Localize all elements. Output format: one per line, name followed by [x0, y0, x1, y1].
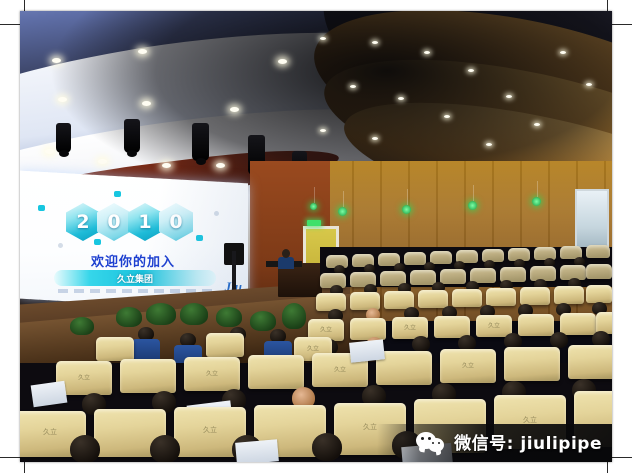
- wechat-icon: [416, 430, 446, 454]
- ceiling-spotlight: [320, 37, 326, 40]
- ceiling-spotlight: [230, 107, 239, 112]
- seat: [586, 264, 612, 279]
- ceiling-spotlight: [52, 58, 61, 63]
- seat: [206, 333, 244, 357]
- ceiling-spotlight: [468, 69, 474, 72]
- handout-paper: [31, 381, 68, 408]
- pendant-lamp: [402, 205, 411, 214]
- ceiling-spotlight: [398, 97, 404, 100]
- seat-logo: 久立: [78, 372, 90, 381]
- wechat-eye: [438, 442, 440, 444]
- seat: [586, 285, 612, 303]
- ceiling-spotlight: [216, 163, 225, 168]
- seat: [418, 290, 448, 308]
- ceiling-spotlight: [372, 41, 378, 44]
- wechat-eye: [421, 437, 424, 440]
- stage-plant: [146, 303, 176, 325]
- ceiling-spotlight: [586, 83, 592, 86]
- pendant-lamp: [338, 207, 347, 216]
- attendee-head: [150, 435, 180, 462]
- seat: [120, 359, 176, 393]
- pendant-lamp: [310, 203, 317, 210]
- stage-light-fixture: [192, 123, 209, 161]
- wechat-bubble-small: [428, 438, 444, 452]
- photo-frame: 2 0 1 0 欢迎你的加入 久立集团 Jiu: [0, 0, 632, 473]
- stage-plant: [282, 303, 306, 329]
- seat: [410, 270, 436, 285]
- ceiling-spotlight: [138, 49, 147, 54]
- seat-logo: 久立: [334, 364, 346, 373]
- ceiling-spotlight: [58, 97, 67, 102]
- seat: [452, 289, 482, 307]
- seat: [568, 345, 612, 379]
- wechat-eye: [432, 442, 434, 444]
- seat-logo: 久立: [462, 360, 474, 369]
- stage-plant: [180, 303, 208, 325]
- ceiling-spotlight: [142, 101, 151, 106]
- seat-logo: 久立: [488, 321, 500, 330]
- ceiling-spotlight: [278, 59, 287, 64]
- stage-plant: [216, 307, 242, 327]
- speaker-head: [282, 249, 290, 258]
- ceiling-spotlight: [372, 137, 378, 140]
- ceiling-spotlight: [444, 115, 450, 118]
- handout-paper: [349, 339, 385, 362]
- seat: [520, 287, 550, 305]
- seat: [504, 347, 560, 381]
- ceiling-spotlight: [560, 51, 566, 54]
- stage-plant: [250, 311, 276, 331]
- seat: [248, 355, 304, 389]
- screen-glare: [20, 177, 248, 305]
- attendee-head: [412, 336, 430, 352]
- ceiling-spotlight: [534, 123, 540, 126]
- speaker-torso: [278, 257, 294, 269]
- seat: [560, 313, 596, 335]
- seat: [316, 293, 346, 311]
- ceiling-spotlight: [98, 159, 107, 164]
- seat-logo: 久立: [404, 323, 416, 332]
- seat: [486, 288, 516, 306]
- stage-light-fixture: [124, 119, 140, 153]
- seat-logo: 久立: [307, 344, 319, 353]
- window: [575, 189, 609, 253]
- seat: [350, 318, 386, 340]
- handout-paper: [235, 439, 279, 462]
- wechat-id-text: 微信号: jiulipipe: [454, 429, 602, 454]
- auditorium-photo: 2 0 1 0 欢迎你的加入 久立集团 Jiu: [20, 11, 612, 462]
- ceiling-spotlight: [506, 95, 512, 98]
- ceiling-spotlight: [45, 149, 54, 154]
- ceiling-spotlight: [162, 163, 171, 168]
- attendee-head: [312, 433, 342, 461]
- seat: [430, 251, 452, 264]
- seat: 久立: [184, 357, 240, 391]
- seat: [518, 314, 554, 336]
- pendant-lamp: [532, 197, 541, 206]
- pendant-lamp: [468, 201, 477, 210]
- seat: [350, 292, 380, 310]
- seat: [586, 245, 610, 258]
- seat: [96, 337, 134, 361]
- stage-plant: [116, 307, 142, 327]
- seat: [440, 269, 466, 284]
- seat: [554, 286, 584, 304]
- ceiling-spotlight: [320, 129, 326, 132]
- seat: [404, 252, 426, 265]
- attendee-head: [550, 332, 568, 348]
- stage-plant: [70, 317, 94, 335]
- seat-logo: 久立: [363, 422, 377, 432]
- ceiling-spotlight: [424, 51, 430, 54]
- seat-logo: 久立: [43, 427, 57, 437]
- seat-logo: 久立: [320, 325, 332, 334]
- ceiling-spotlight: [486, 143, 492, 146]
- stage-light-fixture: [56, 123, 71, 153]
- ceiling-spotlight: [350, 85, 356, 88]
- attendee-head: [70, 435, 100, 462]
- seat-logo: 久立: [206, 368, 218, 377]
- exit-sign-icon: [307, 220, 321, 226]
- wechat-watermark: 微信号: jiulipipe: [408, 423, 612, 460]
- seat-logo: 久立: [203, 425, 217, 435]
- seat: 久立: [440, 349, 496, 383]
